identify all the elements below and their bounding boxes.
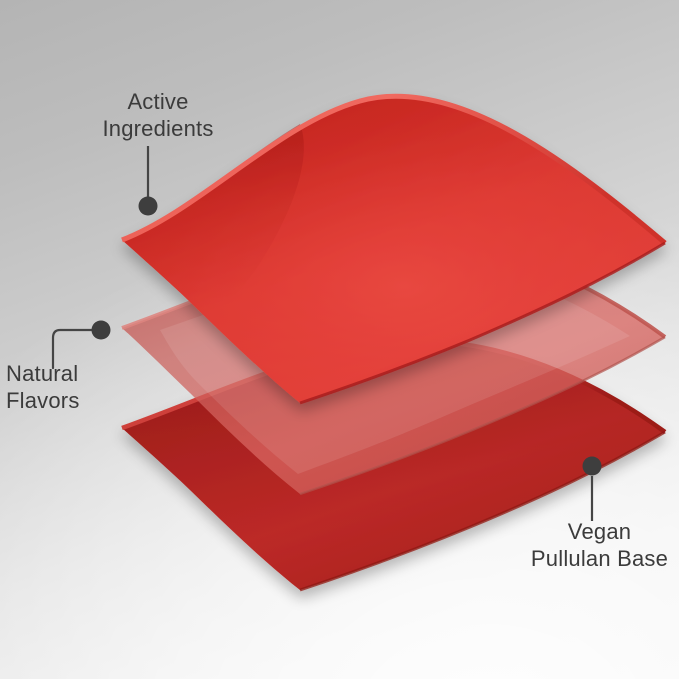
callout-dot-natural-flavors: [92, 321, 111, 340]
callout-active-ingredients: [139, 146, 158, 216]
callout-label-natural-flavors: Natural Flavors: [6, 360, 156, 414]
illustration-canvas: Active Ingredients Natural Flavors Vegan…: [0, 0, 679, 679]
callout-dot-vegan-pullulan-base: [583, 457, 602, 476]
callout-label-vegan-pullulan-base: Vegan Pullulan Base: [520, 518, 679, 572]
callout-label-active-ingredients: Active Ingredients: [78, 88, 238, 142]
callout-dot-active-ingredients: [139, 197, 158, 216]
callout-vegan-pullulan-base: [583, 457, 602, 522]
